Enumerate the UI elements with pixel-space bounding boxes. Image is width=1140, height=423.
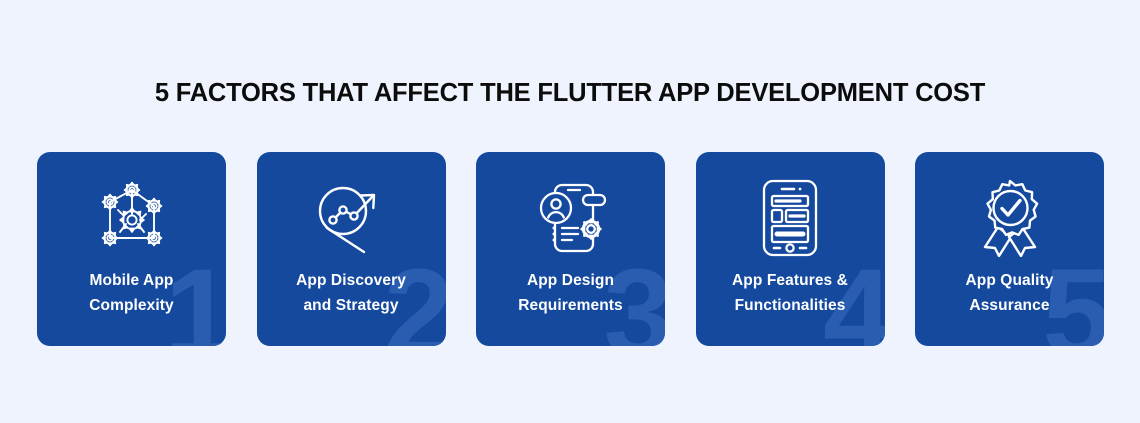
card-label-line: Assurance <box>923 293 1096 318</box>
card-label-line: App Discovery <box>265 268 438 293</box>
infographic-root: 5 FACTORS THAT AFFECT THE FLUTTER APP DE… <box>0 0 1140 423</box>
card-label: App Design Requirements <box>484 268 657 318</box>
factor-card-app-design-requirements[interactable]: 3 <box>476 152 665 346</box>
card-label-line: App Quality <box>923 268 1096 293</box>
page-title: 5 FACTORS THAT AFFECT THE FLUTTER APP DE… <box>0 79 1140 108</box>
card-label-line: Mobile App <box>45 268 218 293</box>
card-label-line: Functionalities <box>704 293 877 318</box>
card-label-line: and Strategy <box>265 293 438 318</box>
factor-card-app-quality-assurance[interactable]: 5 App Quality Assurance <box>915 152 1104 346</box>
card-label: Mobile App Complexity <box>45 268 218 318</box>
quality-badge-check-icon <box>915 178 1104 258</box>
factor-card-app-features-and-functionalities[interactable]: 4 App Features & <box>696 152 885 346</box>
smartphone-wireframe-icon <box>696 178 885 258</box>
factor-card-app-discovery-and-strategy[interactable]: 2 App Discovery and Strategy <box>257 152 446 346</box>
connected-gears-icon <box>37 178 226 258</box>
magnifier-trend-arrow-icon <box>257 178 446 258</box>
card-label-line: App Design <box>484 268 657 293</box>
card-label-line: App Features & <box>704 268 877 293</box>
card-label: App Discovery and Strategy <box>265 268 438 318</box>
card-label-line: Complexity <box>45 293 218 318</box>
phone-user-gear-icon <box>476 178 665 258</box>
card-label: App Quality Assurance <box>923 268 1096 318</box>
card-label: App Features & Functionalities <box>704 268 877 318</box>
card-label-line: Requirements <box>484 293 657 318</box>
factor-card-mobile-app-complexity[interactable]: 1 <box>37 152 226 346</box>
factor-card-list: 1 <box>37 152 1104 346</box>
